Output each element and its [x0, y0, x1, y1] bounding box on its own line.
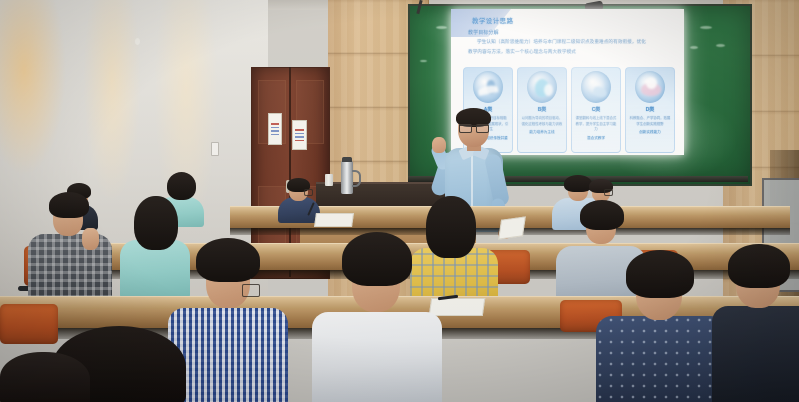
- eyeglasses-bridge: [459, 125, 488, 132]
- slide-card-image: [635, 71, 665, 103]
- flask-cap: [342, 157, 352, 162]
- slide-card: D类 科教融合、产学协同，拓展学生创新实践视野 创新实践能力: [625, 67, 675, 153]
- light-glint: [716, 44, 725, 47]
- slide-card-text: 课堂翻转与线上线下混合式教学，提升学生自主学习能力: [575, 116, 616, 133]
- hair: [342, 232, 412, 286]
- handout: [498, 216, 526, 239]
- slide-card-text: 科教融合、产学协同，拓展学生创新实践视野: [629, 116, 670, 127]
- door-notice-sign: [268, 113, 282, 145]
- hair: [196, 238, 260, 282]
- hand-to-chin: [82, 228, 99, 250]
- slide-card-image: [527, 71, 557, 103]
- slide-body-line: 教学内容与方法，落实一个核心理念与两大教学模式: [468, 49, 576, 55]
- attendee-white-shirt: [312, 232, 442, 402]
- slide-card-footer: 混合式教学: [587, 136, 605, 141]
- eyeglasses-icon: [304, 189, 313, 196]
- attendee-blue-check: [168, 238, 288, 402]
- hair: [626, 250, 694, 298]
- light-glint: [700, 26, 712, 29]
- torso: [712, 306, 799, 402]
- slide-body-line: 学生认知（高阶思维能力）培养与本门课程二级知识点及重难点的有效衔接，优化: [477, 39, 646, 45]
- attendee-dark-right-edge: [712, 244, 799, 402]
- hair: [49, 192, 89, 218]
- handout: [314, 213, 354, 227]
- light-glint: [420, 60, 427, 62]
- attendee-gray-plaid: [28, 192, 114, 300]
- eyeglasses-icon: [242, 284, 260, 297]
- slide-card-label: C类: [592, 106, 601, 113]
- slide-card-label: B类: [538, 106, 547, 113]
- torso: [596, 316, 726, 402]
- torso: [168, 308, 288, 402]
- light-glint: [436, 26, 447, 29]
- attendee-navy-dot: [596, 250, 726, 402]
- paper-cup: [325, 174, 333, 186]
- eyeglasses-icon: [604, 189, 613, 196]
- flask-handle: [352, 170, 361, 187]
- slide-card-image: [473, 71, 503, 103]
- hair: [580, 200, 624, 230]
- slide-card: C类 课堂翻转与线上线下混合式教学，提升学生自主学习能力 混合式教学: [571, 67, 621, 153]
- wall-light-switch[interactable]: [211, 142, 219, 156]
- slide-card-image: [581, 71, 611, 103]
- light-glint: [690, 46, 698, 49]
- slide-card-label: D类: [646, 106, 655, 113]
- door-notice-sign: [292, 120, 307, 150]
- wall-mark: [135, 38, 140, 45]
- slide-card-footer: 能力培养为主线: [529, 130, 554, 135]
- classroom-photo: 教学设计思路 教学目标分解 学生认知（高阶思维能力）培养与本门课程二级知识点及重…: [0, 0, 799, 402]
- attendee-dark-bottom-left: [0, 352, 90, 402]
- hair: [728, 244, 790, 288]
- slide-title: 教学设计思路: [472, 15, 513, 25]
- torso: [312, 312, 442, 402]
- slide-card-footer: 创新实践能力: [639, 130, 661, 135]
- slide-body-line: 教学目标分解: [468, 29, 499, 36]
- orange-chair[interactable]: [0, 304, 58, 344]
- presenter-raised-hand: [432, 137, 446, 153]
- hair: [0, 352, 90, 402]
